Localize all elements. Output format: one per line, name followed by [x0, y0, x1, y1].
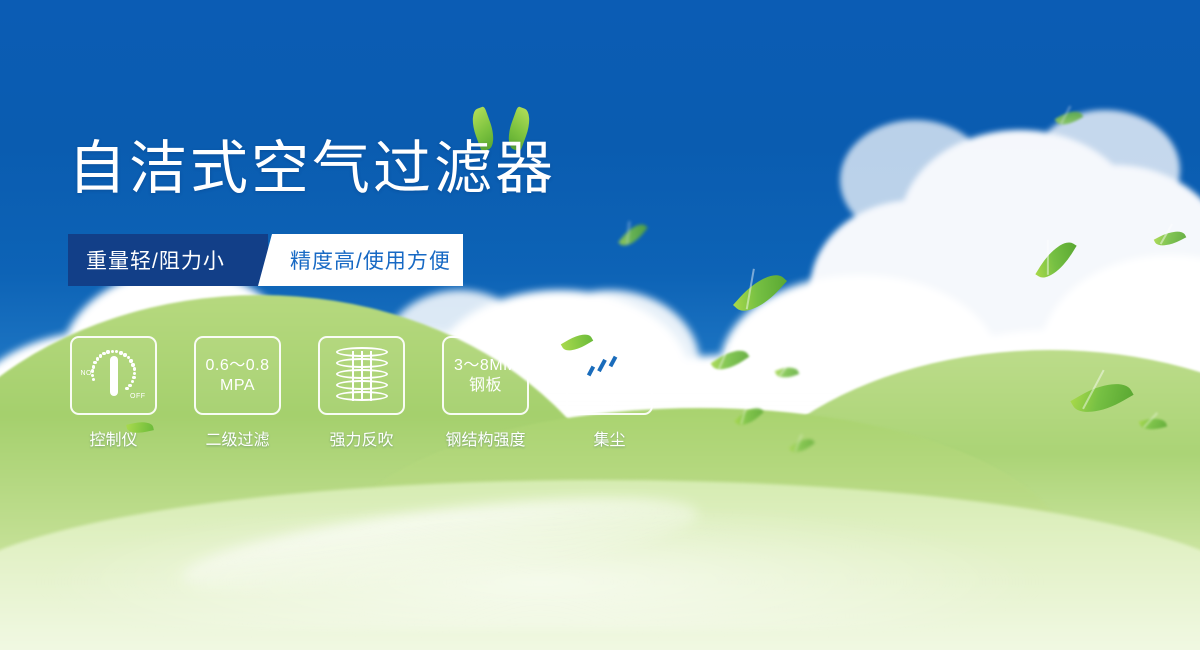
subtitle-right-text: 精度高/使用方便 [290, 245, 451, 275]
feature-tile [318, 336, 405, 415]
subtitle-left-segment: 重量轻/阻力小 [68, 234, 268, 286]
feature-tile: Air [566, 336, 653, 415]
grass-field [0, 455, 1200, 650]
feature-tile: 3〜8MM 钢板 [442, 336, 529, 415]
page-title: 自洁式空气过滤器 [68, 140, 556, 198]
gauge-label-no: NO [81, 370, 93, 377]
air-label: Air [580, 398, 640, 410]
feature-tile: NO OFF [70, 336, 157, 415]
subtitle-right-segment: 精度高/使用方便 [258, 234, 463, 286]
subtitle-left-text: 重量轻/阻力小 [86, 245, 225, 275]
feature-list: NO OFF 控制仪 0.6〜0.8 MPA 二级过滤 [72, 336, 651, 450]
pressure-text-icon: 0.6〜0.8 MPA [206, 356, 270, 396]
feature-item-dust[interactable]: Air 集尘 [568, 336, 651, 450]
feature-tile: 0.6〜0.8 MPA [194, 336, 281, 415]
feature-caption: 集尘 [593, 426, 625, 450]
subtitle-bar: 重量轻/阻力小 精度高/使用方便 [68, 234, 463, 286]
pressure-unit: MPA [206, 376, 270, 396]
gauge-controller-icon: NO OFF [83, 348, 145, 404]
product-banner: 自洁式空气过滤器 重量轻/阻力小 精度高/使用方便 NO OFF 控制仪 [0, 0, 1200, 650]
feature-caption: 二级过滤 [205, 426, 269, 450]
gauge-label-off: OFF [130, 393, 146, 400]
feature-item-controller[interactable]: NO OFF 控制仪 [72, 336, 155, 450]
feature-item-pressure[interactable]: 0.6〜0.8 MPA 二级过滤 [196, 336, 279, 450]
gauge-needle [110, 356, 118, 396]
feature-caption: 钢结构强度 [445, 426, 525, 450]
feature-item-blowback[interactable]: 强力反吹 [320, 336, 403, 450]
steel-thickness: 3〜8MM [454, 356, 517, 376]
pressure-value: 0.6〜0.8 [206, 356, 270, 376]
air-cloud-icon: Air [580, 351, 640, 401]
feature-item-steel[interactable]: 3〜8MM 钢板 钢结构强度 [444, 336, 527, 450]
steel-plate-text-icon: 3〜8MM 钢板 [454, 356, 517, 396]
field-sheen [0, 510, 1200, 630]
steel-material: 钢板 [454, 376, 517, 396]
feature-caption: 强力反吹 [329, 426, 393, 450]
filter-discs-icon [336, 347, 388, 405]
